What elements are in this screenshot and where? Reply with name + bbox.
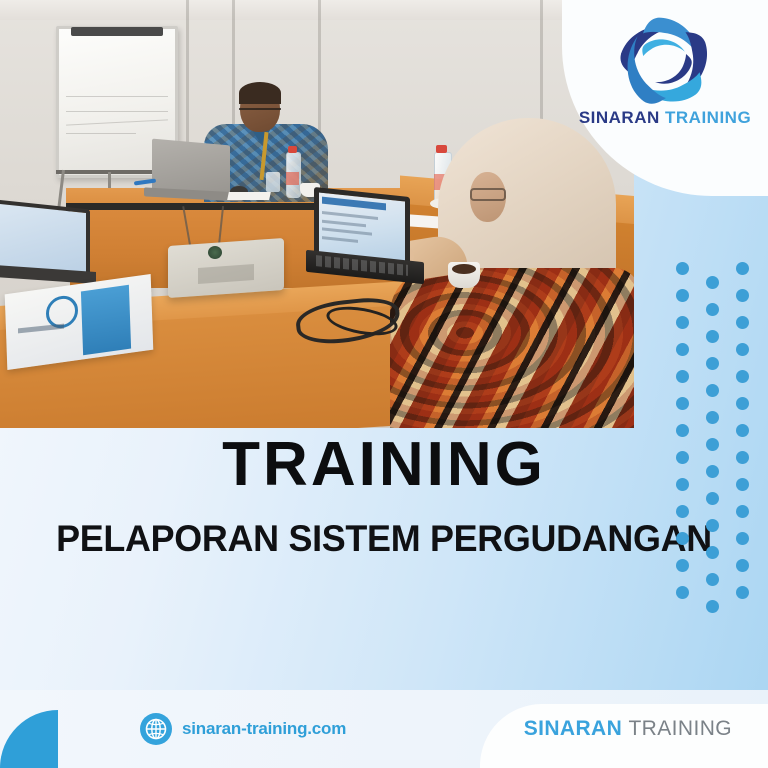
bottle-cap bbox=[436, 145, 447, 153]
decorative-dot bbox=[706, 573, 719, 586]
decorative-dot bbox=[736, 505, 749, 518]
website-group[interactable]: sinaran-training.com bbox=[140, 713, 346, 745]
presenter-hair bbox=[239, 82, 281, 104]
bottle-label bbox=[286, 172, 299, 185]
decorative-dot bbox=[676, 559, 689, 572]
decorative-dot bbox=[736, 478, 749, 491]
decorative-dot bbox=[676, 424, 689, 437]
decorative-dot bbox=[706, 492, 719, 505]
photo-scene bbox=[0, 0, 634, 428]
decorative-dot bbox=[706, 519, 719, 532]
decorative-dot bbox=[736, 262, 749, 275]
decorative-dot bbox=[706, 357, 719, 370]
decorative-dot bbox=[676, 451, 689, 464]
drinking-glass bbox=[266, 172, 280, 192]
footer-corner-accent bbox=[0, 710, 58, 768]
globe-icon bbox=[140, 713, 172, 745]
decorative-dot bbox=[676, 397, 689, 410]
decorative-dot bbox=[706, 465, 719, 478]
brand-word-sinaran: SINARAN bbox=[579, 108, 660, 127]
flipchart-line bbox=[66, 111, 168, 112]
decorative-dot bbox=[676, 343, 689, 356]
decorative-dot bbox=[676, 289, 689, 302]
main-title: TRAINING bbox=[0, 434, 768, 496]
presenter-glasses bbox=[239, 108, 281, 118]
subtitle: PELAPORAN SISTEM PERGUDANGAN bbox=[12, 518, 757, 560]
decorative-dot bbox=[736, 370, 749, 383]
flipchart-clip bbox=[71, 27, 164, 36]
folder-band bbox=[81, 285, 131, 355]
decorative-dot bbox=[706, 330, 719, 343]
decorative-dot bbox=[736, 397, 749, 410]
decorative-dot bbox=[736, 289, 749, 302]
title-block: TRAINING PELAPORAN SISTEM PERGUDANGAN bbox=[0, 428, 768, 618]
decorative-dot bbox=[676, 505, 689, 518]
footer-word-training: TRAINING bbox=[628, 717, 732, 740]
decorative-dot bbox=[676, 532, 689, 545]
participant-dress-pattern bbox=[390, 268, 634, 428]
decorative-dot bbox=[706, 276, 719, 289]
footer-bar: sinaran-training.com SINARAN TRAINING bbox=[0, 690, 768, 768]
decorative-dot bbox=[736, 586, 749, 599]
decorative-dot bbox=[736, 532, 749, 545]
decorative-dot bbox=[736, 343, 749, 356]
flipchart-line bbox=[66, 96, 168, 97]
decorative-dot bbox=[706, 303, 719, 316]
training-photo bbox=[0, 0, 634, 428]
promotional-poster: SINARAN TRAINING TRAINING PELAPORAN SIST… bbox=[0, 0, 768, 768]
decorative-dot bbox=[736, 559, 749, 572]
decorative-dot bbox=[676, 478, 689, 491]
participant-glasses bbox=[470, 188, 506, 201]
coffee-liquid bbox=[452, 264, 476, 274]
decorative-dot bbox=[736, 316, 749, 329]
decorative-dot bbox=[706, 546, 719, 559]
decorative-dot bbox=[676, 586, 689, 599]
footer-brand-wordmark: SINARAN TRAINING bbox=[524, 717, 732, 741]
decorative-dot bbox=[736, 451, 749, 464]
website-url[interactable]: sinaran-training.com bbox=[182, 719, 346, 739]
decorative-dot bbox=[706, 411, 719, 424]
decorative-dot bbox=[706, 438, 719, 451]
decorative-dot bbox=[676, 370, 689, 383]
paper-sheet bbox=[227, 192, 271, 200]
brand-logo-wordmark: SINARAN TRAINING bbox=[562, 108, 768, 128]
wall-top-band bbox=[0, 0, 634, 20]
flipchart-line bbox=[66, 120, 168, 126]
bottle-cap bbox=[288, 146, 297, 153]
footer-word-sinaran: SINARAN bbox=[524, 717, 622, 740]
decorative-dot bbox=[676, 262, 689, 275]
decorative-dot bbox=[676, 316, 689, 329]
projector-lens bbox=[208, 246, 222, 259]
decorative-dot bbox=[706, 384, 719, 397]
decorative-dot-pattern bbox=[676, 262, 760, 618]
brand-word-training: TRAINING bbox=[665, 108, 751, 127]
decorative-dot bbox=[706, 600, 719, 613]
flipchart-line bbox=[66, 133, 136, 134]
swirl-spiral-logo-icon bbox=[605, 14, 725, 110]
decorative-dot bbox=[736, 424, 749, 437]
